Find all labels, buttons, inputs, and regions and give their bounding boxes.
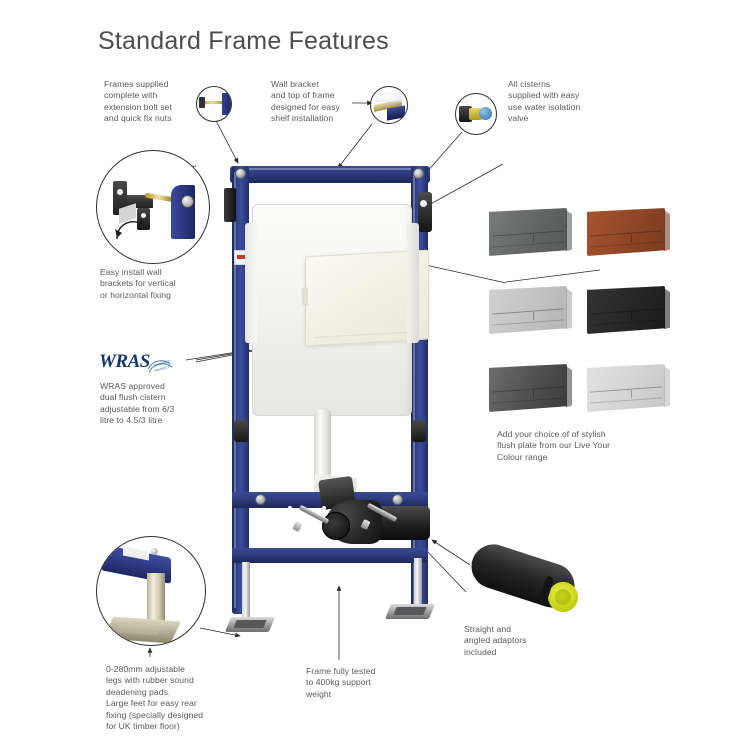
product-feature-diagram: Standard Frame Features — [0, 0, 750, 750]
marker-dot-left — [288, 506, 292, 510]
top-rail-highlight — [236, 168, 424, 170]
corner-screw-left — [235, 168, 246, 179]
frame-edge-icon — [222, 93, 231, 115]
wc-frame-assembly — [222, 162, 442, 652]
note-adaptors-included: Straight and angled adaptors included — [464, 624, 568, 658]
inset-isolation-valve — [455, 93, 497, 135]
bolt-nut-icon — [199, 97, 205, 108]
inset-wall-bracket — [96, 150, 210, 264]
valve-knob-icon — [479, 107, 492, 120]
panel-tab-icon — [302, 287, 308, 305]
upper-wall-bracket-right — [418, 192, 432, 232]
flush-pipe — [314, 410, 331, 482]
wras-logo: WRAS APPROVED PRODUCT — [99, 349, 185, 375]
bracket-hole-a-icon — [117, 189, 123, 195]
inset-adjustable-leg — [96, 536, 206, 646]
note-isolation-valve: All cisterns supplied with easy use wate… — [508, 79, 616, 125]
note-wras-approved: WRAS approved dual flush cistern adjusta… — [100, 381, 212, 427]
leg-screw-icon — [151, 548, 158, 555]
frame-top-icon — [387, 105, 405, 120]
cistern-body — [252, 204, 412, 416]
highlight-icon — [376, 92, 402, 102]
note-load-tested: Frame fully tested to 400kg support weig… — [306, 666, 406, 700]
rotation-arrows-icon — [111, 213, 149, 245]
wras-wordmark: WRAS — [99, 351, 150, 373]
flush-plate-white-grey[interactable] — [587, 364, 665, 412]
note-easy-install-brackets: Easy install wall brackets for vertical … — [100, 267, 212, 301]
mid-rail-screw-right — [392, 494, 403, 505]
marker-dot-right — [322, 506, 326, 510]
page-title: Standard Frame Features — [98, 27, 389, 56]
note-wall-bracket-top: Wall bracket and top of frame designed f… — [271, 79, 375, 125]
left-upright-highlight — [234, 172, 236, 608]
frame-lower-rail — [232, 548, 428, 563]
cistern-access-panel — [305, 250, 429, 347]
flush-plate-swatches — [489, 208, 669, 408]
upper-wall-bracket-left — [224, 188, 236, 222]
mid-bracket-right — [412, 420, 426, 442]
inset-shelf-bracket — [370, 86, 408, 124]
note-flush-plate-choice: Add your choice of of stylish flush plat… — [497, 429, 629, 463]
bracket-hole-icon — [420, 200, 427, 207]
flush-plate-light-grey[interactable] — [489, 286, 567, 334]
panel-seam-icon — [314, 331, 420, 338]
pan-bolt-head-left — [292, 521, 302, 532]
leg-right — [414, 558, 422, 610]
flush-plate-dark-grey[interactable] — [489, 208, 567, 256]
mid-bracket-left — [234, 420, 248, 442]
frame-corner-icon — [171, 185, 195, 239]
foot-pad-left — [233, 620, 266, 628]
inset-extension-bolt — [196, 86, 232, 122]
adaptor-seal-inner-icon — [555, 589, 571, 605]
waste-pipe-collar — [322, 512, 350, 540]
flush-plate-gunmetal[interactable] — [489, 364, 567, 412]
flush-plate-copper[interactable] — [587, 208, 665, 256]
corner-screw-right — [413, 168, 424, 179]
leg-left — [242, 562, 250, 620]
wras-badge-icon: APPROVED PRODUCT — [146, 357, 180, 374]
adaptor-photo — [464, 538, 590, 624]
foot-pad-right — [393, 607, 426, 615]
mid-rail-screw-left — [255, 494, 266, 505]
flush-plate-black[interactable] — [587, 286, 665, 334]
frame-screw-icon — [181, 195, 194, 208]
note-adjustable-legs: 0-280mm adjustable legs with rubber soun… — [106, 664, 254, 732]
note-frames-supplied: Frames supplied complete with extension … — [104, 79, 200, 125]
